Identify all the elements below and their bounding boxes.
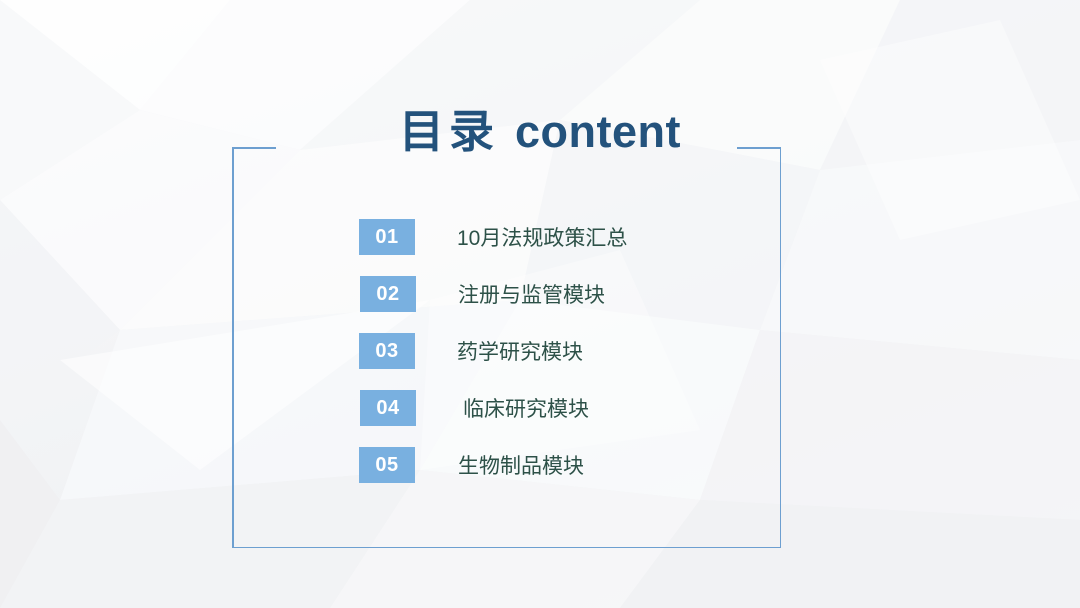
frame-bottom-edge — [232, 547, 781, 549]
toc-item-01[interactable]: 01 10月法规政策汇总 — [359, 219, 779, 255]
frame-left-edge — [232, 147, 234, 548]
toc-number-badge: 02 — [360, 276, 416, 312]
toc-item-02[interactable]: 02 注册与监管模块 — [360, 276, 779, 312]
toc-item-05[interactable]: 05 生物制品模块 — [359, 447, 779, 483]
toc-item-label: 生物制品模块 — [458, 450, 584, 480]
toc-item-label: 临床研究模块 — [463, 393, 589, 423]
toc-item-label: 10月法规政策汇总 — [457, 222, 627, 252]
toc-number-badge: 03 — [359, 333, 415, 369]
toc-number-badge: 04 — [360, 390, 416, 426]
toc-list: 01 10月法规政策汇总 02 注册与监管模块 03 药学研究模块 04 临床研… — [359, 219, 779, 483]
toc-item-04[interactable]: 04 临床研究模块 — [360, 390, 779, 426]
toc-number-badge: 05 — [359, 447, 415, 483]
toc-item-03[interactable]: 03 药学研究模块 — [359, 333, 779, 369]
frame-right-edge — [780, 147, 782, 548]
toc-item-label: 注册与监管模块 — [458, 279, 605, 309]
toc-number-badge: 01 — [359, 219, 415, 255]
page-title: 目录content — [0, 104, 1080, 160]
page-title-en: content — [515, 106, 681, 157]
slide-canvas: 目录content 01 10月法规政策汇总 02 注册与监管模块 03 药学研… — [0, 0, 1080, 608]
toc-item-label: 药学研究模块 — [457, 336, 583, 366]
page-title-cn: 目录 — [399, 106, 499, 157]
